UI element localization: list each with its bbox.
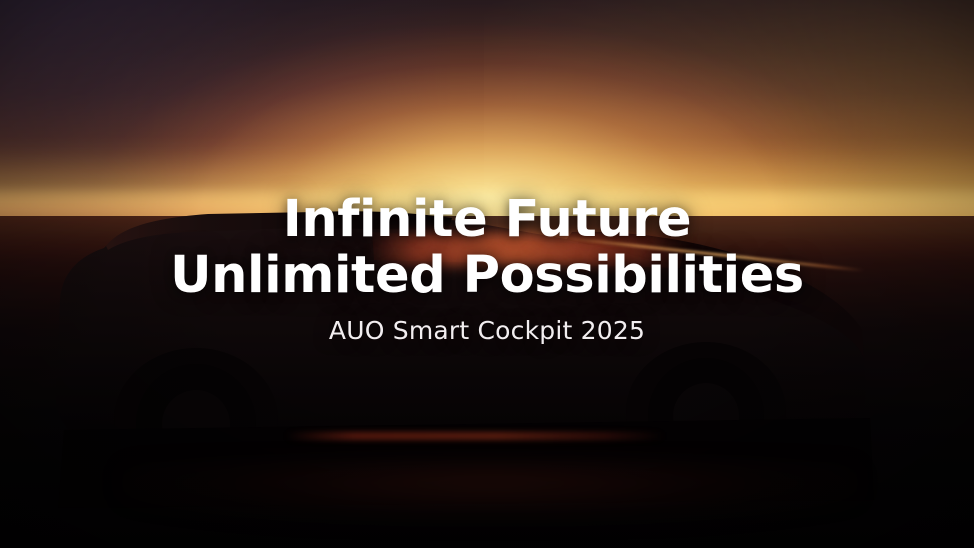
headline-line-1: Infinite Future — [0, 192, 974, 248]
presentation-slide: Infinite Future Unlimited Possibilities … — [0, 0, 974, 548]
slide-copy-block: Infinite Future Unlimited Possibilities … — [0, 192, 974, 346]
headline-line-2: Unlimited Possibilities — [0, 248, 974, 304]
slide-subtitle: AUO Smart Cockpit 2025 — [0, 316, 974, 346]
slide-headline: Infinite Future Unlimited Possibilities — [0, 192, 974, 304]
